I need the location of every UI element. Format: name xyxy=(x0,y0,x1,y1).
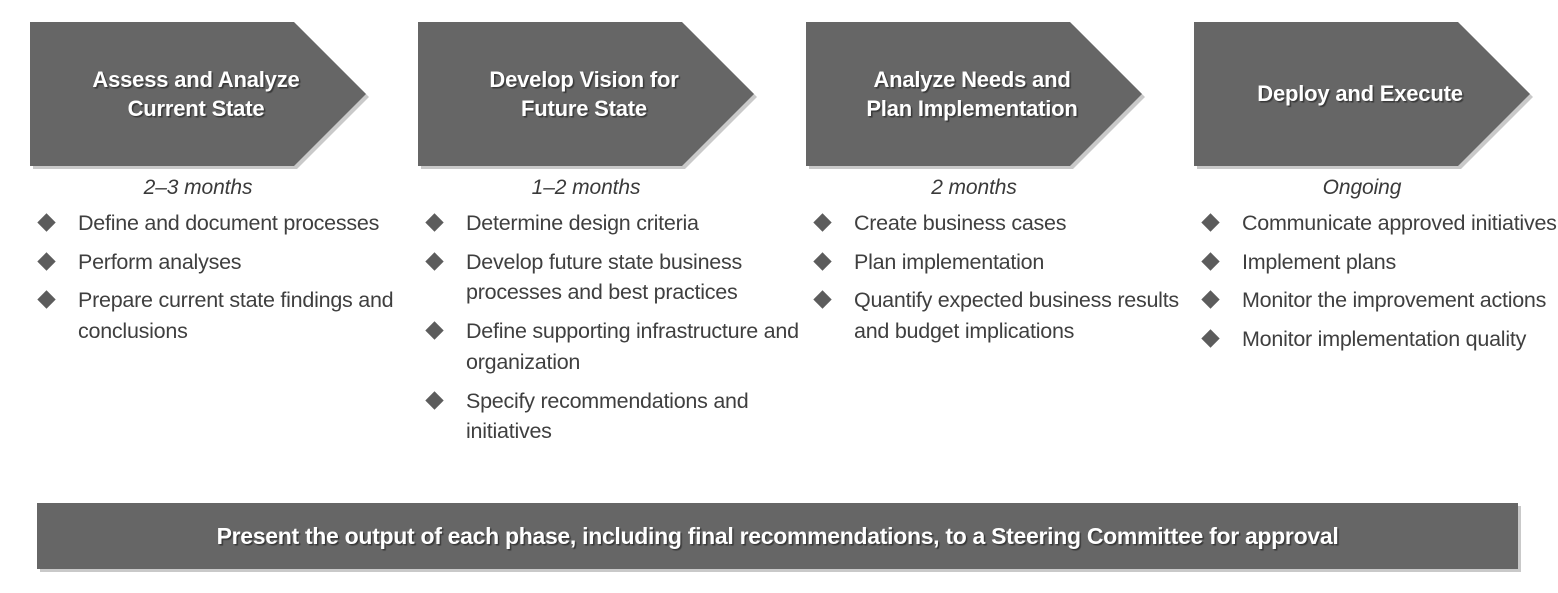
list-item-label: Communicate approved initiatives xyxy=(1242,211,1557,235)
list-item-label: Implement plans xyxy=(1242,250,1396,274)
list-item-label: Define supporting infrastructure and org… xyxy=(466,319,799,374)
diamond-bullet-icon xyxy=(425,322,443,340)
steering-committee-banner[interactable]: Present the output of each phase, includ… xyxy=(37,503,1518,569)
diamond-bullet-icon xyxy=(425,252,443,270)
phase-duration: 2–3 months xyxy=(30,176,366,200)
banner-shape: Present the output of each phase, includ… xyxy=(37,503,1518,569)
list-item-label: Define and document processes xyxy=(78,211,379,235)
process-roadmap-diagram: Assess and Analyze Current State 2–3 mon… xyxy=(0,0,1558,593)
list-item: Create business cases xyxy=(812,208,1196,239)
list-item-label: Monitor implementation quality xyxy=(1242,327,1526,351)
diamond-bullet-icon xyxy=(37,252,55,270)
chevron-shape: Analyze Needs and Plan Implementation xyxy=(806,22,1142,166)
list-item-label: Perform analyses xyxy=(78,250,241,274)
list-item: Perform analyses xyxy=(36,247,420,278)
list-item: Implement plans xyxy=(1200,247,1558,278)
list-item: Monitor the improvement actions xyxy=(1200,285,1558,316)
list-item-label: Create business cases xyxy=(854,211,1066,235)
list-item: Specify recommendations and initiatives xyxy=(424,386,808,447)
phase-chevron-4[interactable]: Deploy and Execute xyxy=(1194,22,1530,166)
list-item-label: Develop future state business processes … xyxy=(466,250,742,305)
diamond-bullet-icon xyxy=(425,213,443,231)
phase-duration: Ongoing xyxy=(1194,176,1530,200)
list-item: Define supporting infrastructure and org… xyxy=(424,316,808,377)
phase-duration: 1–2 months xyxy=(418,176,754,200)
list-item-label: Prepare current state findings and concl… xyxy=(78,288,393,343)
list-item: Define and document processes xyxy=(36,208,420,239)
diamond-bullet-icon xyxy=(37,213,55,231)
list-item: Plan implementation xyxy=(812,247,1196,278)
list-item-label: Monitor the improvement actions xyxy=(1242,288,1546,312)
phase-column-2: Develop Vision for Future State 1–2 mont… xyxy=(418,0,808,500)
chevron-shape: Deploy and Execute xyxy=(1194,22,1530,166)
phase-chevron-1[interactable]: Assess and Analyze Current State xyxy=(30,22,366,166)
phase-title: Develop Vision for Future State xyxy=(452,65,720,123)
phase-chevron-3[interactable]: Analyze Needs and Plan Implementation xyxy=(806,22,1142,166)
diamond-bullet-icon xyxy=(425,391,443,409)
phase-column-4: Deploy and Execute Ongoing Communicate a… xyxy=(1194,0,1558,500)
diamond-bullet-icon xyxy=(1201,291,1219,309)
diamond-bullet-icon xyxy=(1201,252,1219,270)
list-item: Monitor implementation quality xyxy=(1200,324,1558,355)
list-item: Quantify expected business results and b… xyxy=(812,285,1196,346)
diamond-bullet-icon xyxy=(1201,330,1219,348)
list-item: Develop future state business processes … xyxy=(424,247,808,308)
phase-bullet-list: Create business cases Plan implementatio… xyxy=(812,208,1196,355)
chevron-shape: Assess and Analyze Current State xyxy=(30,22,366,166)
phase-bullet-list: Determine design criteria Develop future… xyxy=(424,208,808,455)
phase-duration: 2 months xyxy=(806,176,1142,200)
diamond-bullet-icon xyxy=(813,213,831,231)
list-item-label: Determine design criteria xyxy=(466,211,699,235)
phase-column-1: Assess and Analyze Current State 2–3 mon… xyxy=(30,0,420,500)
phase-title: Analyze Needs and Plan Implementation xyxy=(840,65,1108,123)
diamond-bullet-icon xyxy=(1201,213,1219,231)
list-item-label: Plan implementation xyxy=(854,250,1044,274)
diamond-bullet-icon xyxy=(813,252,831,270)
phase-bullet-list: Communicate approved initiatives Impleme… xyxy=(1200,208,1558,363)
phase-bullet-list: Define and document processes Perform an… xyxy=(36,208,420,355)
list-item: Prepare current state findings and concl… xyxy=(36,285,420,346)
phase-title: Assess and Analyze Current State xyxy=(64,65,332,123)
phase-title: Deploy and Execute xyxy=(1228,79,1496,108)
banner-text: Present the output of each phase, includ… xyxy=(217,523,1339,550)
phase-chevron-2[interactable]: Develop Vision for Future State xyxy=(418,22,754,166)
list-item-label: Specify recommendations and initiatives xyxy=(466,389,748,444)
phase-column-3: Analyze Needs and Plan Implementation 2 … xyxy=(806,0,1196,500)
chevron-shape: Develop Vision for Future State xyxy=(418,22,754,166)
list-item: Communicate approved initiatives xyxy=(1200,208,1558,239)
diamond-bullet-icon xyxy=(37,291,55,309)
diamond-bullet-icon xyxy=(813,291,831,309)
list-item-label: Quantify expected business results and b… xyxy=(854,288,1179,343)
list-item: Determine design criteria xyxy=(424,208,808,239)
